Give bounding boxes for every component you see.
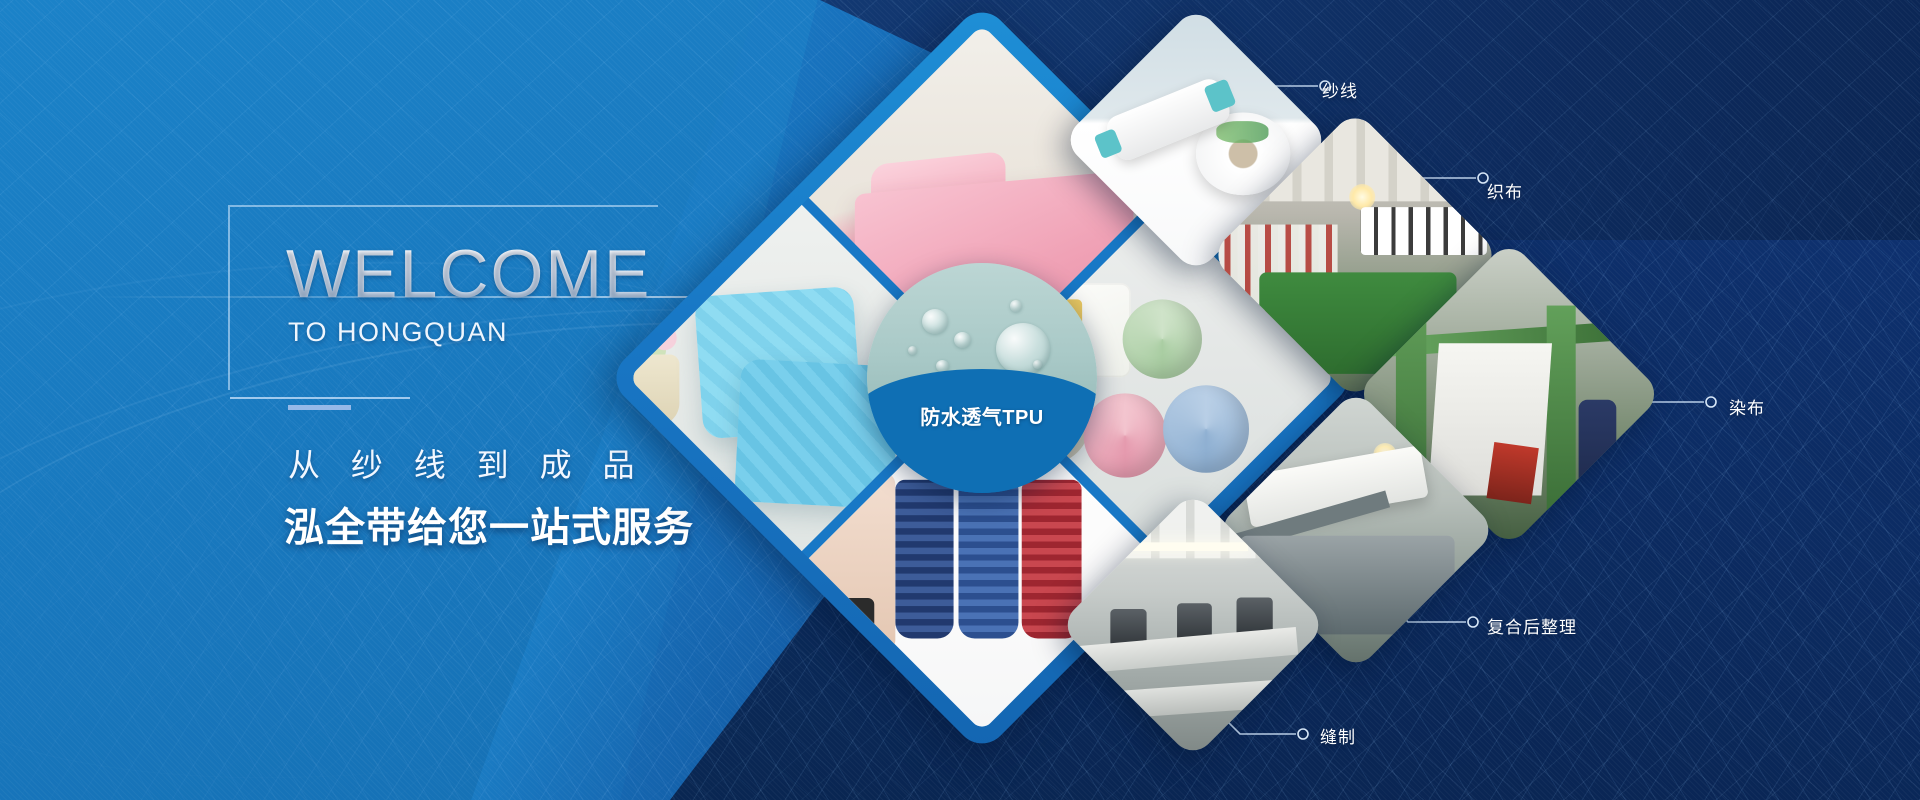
hero-banner: WELCOME TO HONGQUAN 从 纱 线 到 成 品 泓全带给您一站式… <box>0 0 1920 800</box>
tagline-text: 从 纱 线 到 成 品 <box>288 440 645 486</box>
welcome-title: WELCOME <box>286 240 651 308</box>
welcome-subtitle: TO HONGQUAN <box>288 317 508 348</box>
step-label-weaving: 织布 <box>1487 178 1523 203</box>
slogan-text: 泓全带给您一站式服务 <box>284 495 694 553</box>
step-label-dyeing: 染布 <box>1729 394 1765 419</box>
accent-rule <box>288 405 351 410</box>
bottom-divider-rule <box>230 397 410 399</box>
step-label-laminating: 复合后整理 <box>1487 613 1577 638</box>
step-label-sewing: 缝制 <box>1320 723 1356 748</box>
step-label-yarn: 纱线 <box>1322 77 1358 102</box>
badge-label: 防水透气TPU <box>867 401 1097 430</box>
waterproof-tpu-badge: 防水透气TPU <box>867 263 1097 493</box>
